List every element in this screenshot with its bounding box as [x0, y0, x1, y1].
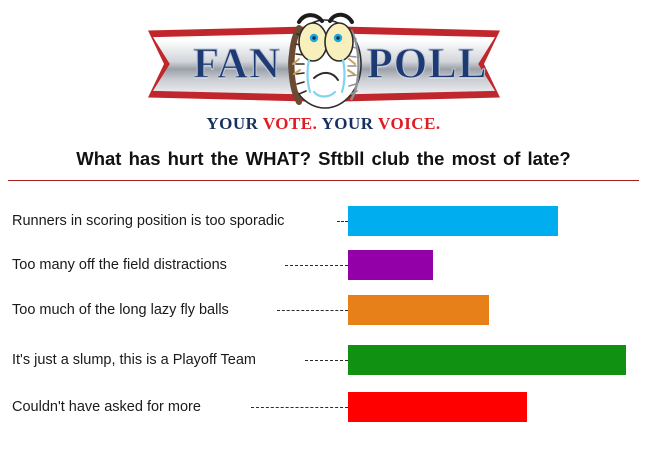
- bar-leader-line: [305, 360, 348, 361]
- bar-orange: [348, 295, 489, 325]
- bar-purple: [348, 250, 433, 280]
- crying-baseball-mascot-icon: [273, 4, 377, 116]
- tagline-your-1: YOUR: [206, 114, 263, 133]
- page-title: What has hurt the WHAT? Sftbll club the …: [0, 148, 647, 170]
- logo-tagline: YOUR VOTE. YOUR VOICE.: [0, 114, 647, 134]
- chart-row: Too many off the field distractions: [0, 250, 647, 280]
- logo-banner: FAN POLL: [148, 26, 500, 102]
- bar-category-label: Too many off the field distractions: [12, 250, 227, 280]
- poll-results-bar-chart: Runners in scoring position is too spora…: [0, 192, 647, 444]
- bar-category-label: It's just a slump, this is a Playoff Tea…: [12, 345, 256, 375]
- bar-green: [348, 345, 626, 375]
- bar-red: [348, 392, 527, 422]
- bar-category-label: Too much of the long lazy fly balls: [12, 295, 229, 325]
- bar-leader-line: [277, 310, 348, 311]
- bar-leader-line: [251, 407, 348, 408]
- tagline-your-2: YOUR: [317, 114, 378, 133]
- bar-blue: [348, 206, 558, 236]
- bar-leader-line: [285, 265, 348, 266]
- chart-row: Couldn't have asked for more: [0, 392, 647, 422]
- tagline-voice: VOICE.: [378, 114, 441, 133]
- chart-row: Too much of the long lazy fly balls: [0, 295, 647, 325]
- tagline-vote: VOTE.: [263, 114, 318, 133]
- chart-row: It's just a slump, this is a Playoff Tea…: [0, 345, 647, 375]
- bar-leader-line: [337, 221, 348, 222]
- title-divider: [8, 180, 639, 181]
- bar-category-label: Runners in scoring position is too spora…: [12, 206, 284, 236]
- bar-category-label: Couldn't have asked for more: [12, 392, 201, 422]
- fan-poll-logo: FAN POLL: [0, 0, 647, 142]
- chart-row: Runners in scoring position is too spora…: [0, 206, 647, 236]
